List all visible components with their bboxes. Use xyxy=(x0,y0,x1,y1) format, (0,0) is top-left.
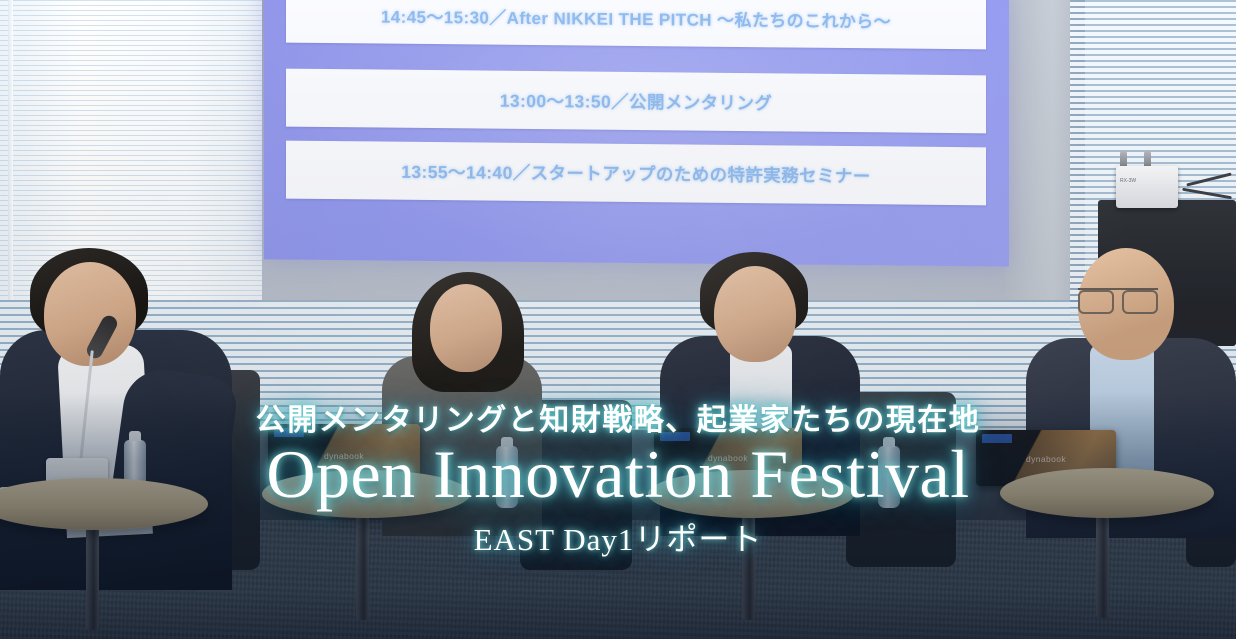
laptop-sticker xyxy=(660,432,690,441)
speaker-head xyxy=(430,284,502,372)
receiver-label: RX-3W xyxy=(1120,178,1136,184)
laptop-brand-text: dynabook xyxy=(324,451,364,461)
schedule-row-text: 14:45〜15:30／After NIKKEI THE PITCH 〜私たちの… xyxy=(381,2,891,32)
speaker-head xyxy=(714,266,796,362)
schedule-row: 13:00〜13:50／公開メンタリング xyxy=(286,69,986,134)
window-blinds-left-icon xyxy=(0,0,262,300)
water-bottle xyxy=(878,446,900,508)
projection-screen-slide: 13:00〜13:50／公開メンタリング 13:55〜14:40／スタートアップ… xyxy=(264,0,1009,267)
speaker-head xyxy=(1078,248,1174,360)
round-table xyxy=(262,470,470,518)
table-leg xyxy=(356,500,369,620)
laptop-brand-text: dynabook xyxy=(708,453,748,463)
wireless-receiver: RX-3W xyxy=(1116,166,1178,208)
laptop-brand-text: dynabook xyxy=(1026,454,1066,464)
round-table xyxy=(1000,468,1214,518)
schedule-row-text: 13:00〜13:50／公開メンタリング xyxy=(500,87,773,115)
laptop-sticker xyxy=(274,428,304,437)
round-table xyxy=(648,470,854,518)
schedule-row: 14:45〜15:30／After NIKKEI THE PITCH 〜私たちの… xyxy=(286,0,986,49)
water-bottle xyxy=(496,446,518,508)
table-leg xyxy=(742,500,755,620)
schedule-row: 13:55〜14:40／スタートアップのための特許実務セミナー xyxy=(286,141,986,206)
schedule-row-text: 13:55〜14:40／スタートアップのための特許実務セミナー xyxy=(401,158,870,188)
panel-chair xyxy=(846,392,956,567)
laptop-sticker xyxy=(982,434,1012,443)
festival-report-hero-image: 13:00〜13:50／公開メンタリング 13:55〜14:40／スタートアップ… xyxy=(0,0,1236,639)
